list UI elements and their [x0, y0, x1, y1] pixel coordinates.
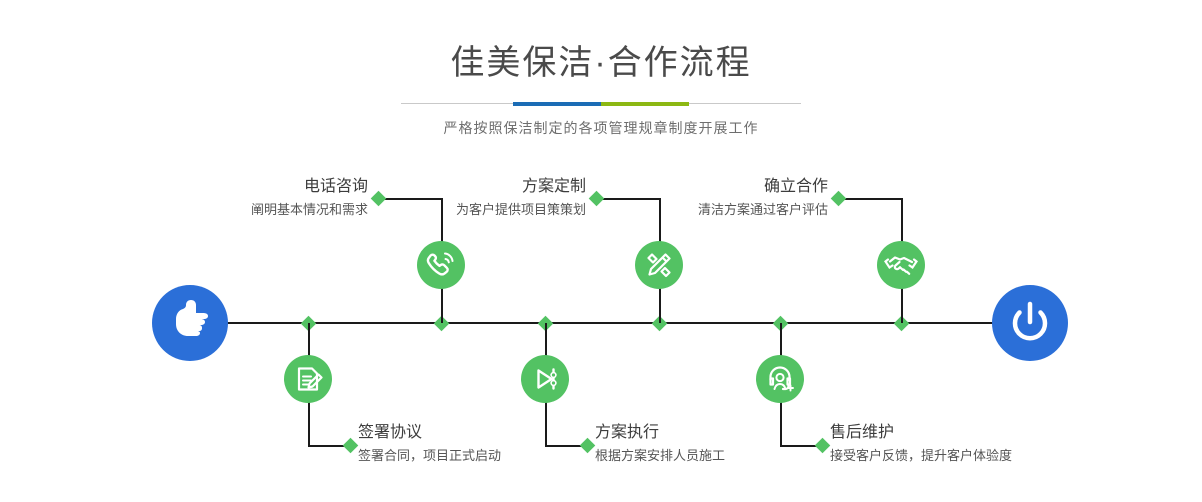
node-step-1[interactable]: [417, 241, 465, 289]
label-step-3-title: 方案执行: [595, 423, 725, 443]
label-step-6-desc: 清洁方案通过客户评估: [698, 200, 828, 220]
power-icon: [992, 285, 1068, 361]
label-step-5-title: 售后维护: [830, 423, 1012, 443]
handshake-icon: [877, 241, 925, 289]
play-execute-icon: [521, 355, 569, 403]
label-step-3-desc: 根据方案安排人员施工: [595, 446, 725, 466]
label-step-5-desc: 接受客户反馈，提升客户体验度: [830, 446, 1012, 466]
label-step-4-title: 方案定制: [456, 177, 586, 197]
process-timeline: 电话咨询 阐明基本情况和需求 方案定制 为客户提供项目策策划: [0, 155, 1202, 502]
label-marker-step-5: [815, 438, 831, 454]
label-step-2-title: 签署协议: [358, 423, 501, 443]
divider-green-segment: [601, 102, 689, 106]
label-step-2-desc: 签署合同，项目正式启动: [358, 446, 501, 466]
end-node-power[interactable]: [992, 285, 1068, 361]
label-step-6: 确立合作 清洁方案通过客户评估: [698, 177, 828, 220]
label-step-1-desc: 阐明基本情况和需求: [251, 200, 368, 220]
page-title: 佳美保洁·合作流程: [0, 0, 1202, 84]
page-subtitle: 严格按照保洁制定的各项管理规章制度开展工作: [0, 106, 1202, 138]
label-step-4: 方案定制 为客户提供项目策策划: [456, 177, 586, 220]
label-step-4-desc: 为客户提供项目策策划: [456, 200, 586, 220]
label-marker-step-1: [371, 191, 387, 207]
connector-horizontal-step-4: [596, 198, 661, 200]
node-step-2[interactable]: [284, 355, 332, 403]
pencil-ruler-icon: [635, 241, 683, 289]
customer-service-icon: [756, 355, 804, 403]
divider-blue-segment: [513, 102, 601, 106]
label-step-6-title: 确立合作: [698, 177, 828, 197]
node-step-4[interactable]: [635, 241, 683, 289]
document-sign-icon: [284, 355, 332, 403]
label-step-1-title: 电话咨询: [251, 177, 368, 197]
label-step-5: 售后维护 接受客户反馈，提升客户体验度: [830, 423, 1012, 466]
flow-diagram-page: 佳美保洁·合作流程 严格按照保洁制定的各项管理规章制度开展工作: [0, 0, 1202, 502]
phone-call-icon: [417, 241, 465, 289]
pointing-hand-icon: [152, 285, 228, 361]
timeline-axis: [225, 322, 995, 324]
label-marker-step-2: [343, 438, 359, 454]
label-step-3: 方案执行 根据方案安排人员施工: [595, 423, 725, 466]
connector-horizontal-step-6: [838, 198, 903, 200]
node-step-5[interactable]: [756, 355, 804, 403]
label-step-2: 签署协议 签署合同，项目正式启动: [358, 423, 501, 466]
connector-horizontal-step-1: [378, 198, 443, 200]
node-step-6[interactable]: [877, 241, 925, 289]
label-marker-step-6: [831, 191, 847, 207]
label-step-1: 电话咨询 阐明基本情况和需求: [251, 177, 368, 220]
label-marker-step-3: [580, 438, 596, 454]
start-node-pointing-hand[interactable]: [152, 285, 228, 361]
node-step-3[interactable]: [521, 355, 569, 403]
title-divider: [401, 102, 801, 106]
label-marker-step-4: [589, 191, 605, 207]
page-header: 佳美保洁·合作流程 严格按照保洁制定的各项管理规章制度开展工作: [0, 0, 1202, 138]
